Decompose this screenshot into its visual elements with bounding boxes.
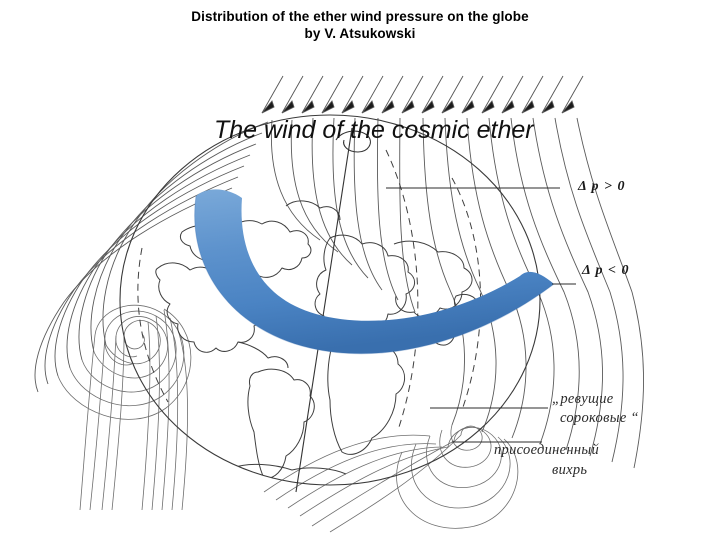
wind-arrow <box>262 76 283 113</box>
label-pressure-high: Δ p > 0 <box>577 179 625 194</box>
wind-arrow <box>382 76 403 113</box>
crescent-band-shape <box>195 189 554 353</box>
wind-arrow <box>342 76 363 113</box>
wind-arrow <box>502 76 523 113</box>
wind-arrow <box>562 76 583 113</box>
wind-caption: The wind of the cosmic ether <box>214 116 535 144</box>
label-roaring-forties-line1: „ревущие <box>552 391 614 407</box>
wind-arrow <box>462 76 483 113</box>
wind-arrow <box>362 76 383 113</box>
incoming-ether-wind-arrows <box>262 76 583 113</box>
wind-arrow <box>542 76 563 113</box>
ether-wind-diagram: Δ p > 0 Δ p < 0 „ревущие сороковые “ при… <box>0 0 720 540</box>
coastline-antarctica <box>232 464 346 474</box>
annotation-roaring-forties: „ревущие сороковые “ <box>430 391 639 426</box>
wind-arrow <box>522 76 543 113</box>
right-attached-vortex <box>264 425 518 532</box>
annotation-pressure-low: Δ p < 0 <box>552 263 629 284</box>
diagram-canvas: Distribution of the ether wind pressure … <box>0 0 720 540</box>
wind-arrow <box>302 76 323 113</box>
earth-rotation-axis <box>296 128 352 492</box>
label-attached-vortex-line1: присоединенный <box>494 442 599 458</box>
wind-arrow <box>322 76 343 113</box>
meridian-dashed-right <box>452 178 481 410</box>
wind-arrow <box>482 76 503 113</box>
coastline-central-america <box>238 342 288 368</box>
ether-wind-pressure-band <box>195 189 554 353</box>
coastline-south-america <box>248 369 314 478</box>
coastline-arctic <box>286 201 340 220</box>
wind-arrow <box>282 76 303 113</box>
wind-arrow <box>442 76 463 113</box>
annotation-pressure-high: Δ p > 0 <box>386 179 625 194</box>
wind-arrow <box>422 76 443 113</box>
label-pressure-low: Δ p < 0 <box>581 263 629 278</box>
wind-arrow <box>402 76 423 113</box>
label-roaring-forties-line2: сороковые “ <box>560 410 639 426</box>
label-attached-vortex-line2: вихрь <box>552 462 587 478</box>
annotation-attached-vortex: присоединенный вихрь <box>452 442 599 478</box>
